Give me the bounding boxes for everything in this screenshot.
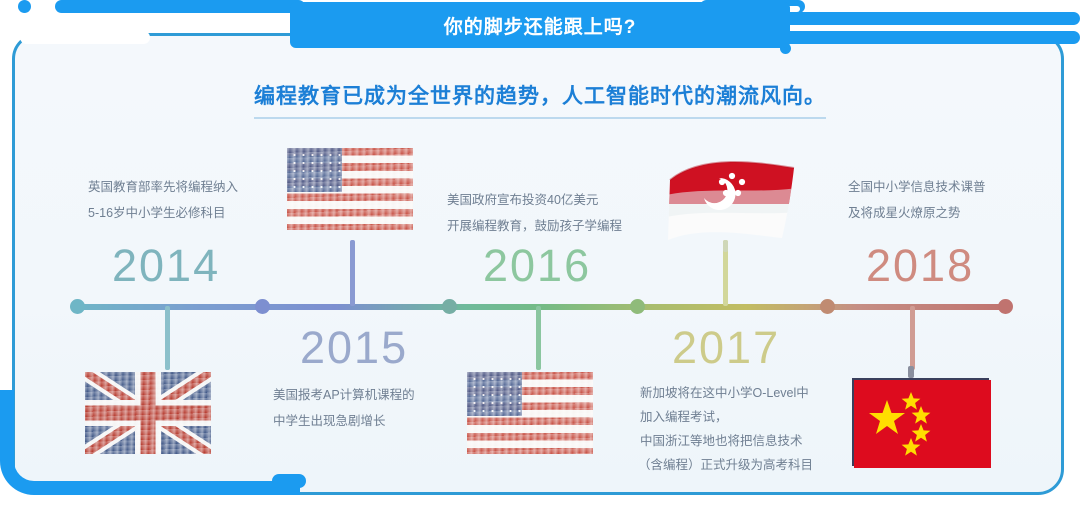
year-label-2017: 2017 — [672, 322, 780, 374]
year-label-2014: 2014 — [112, 240, 220, 292]
caption-2017-line-1: 新加坡将在这中小学O-Level中 — [640, 382, 809, 404]
flag-united-kingdom — [85, 372, 211, 454]
timeline-stem-2015 — [350, 240, 355, 306]
caption-2015-line-2: 中学生出现急剧增长 — [273, 410, 386, 432]
timeline-node-2015 — [255, 299, 270, 314]
bottom-left-corner-cap — [272, 474, 306, 488]
caption-2016-line-2: 开展编程教育，鼓励孩子学编程 — [447, 215, 622, 237]
caption-2017-line-3: 中国浙江等地也将把信息技术 — [640, 430, 803, 452]
flag-united-states-2016 — [467, 372, 593, 454]
timeline-stem-2016 — [536, 306, 541, 370]
caption-2018-line-1: 全国中小学信息技术课普 — [848, 176, 986, 198]
caption-2014-line-1: 英国教育部率先将编程纳入 — [88, 176, 238, 198]
timeline-stem-2014 — [165, 306, 170, 370]
flag-singapore — [662, 142, 798, 247]
timeline-node-2016 — [442, 299, 457, 314]
caption-2017-line-2: 加入编程考试， — [640, 406, 728, 428]
flagpole-singapore — [723, 240, 728, 252]
timeline-node-end — [998, 299, 1013, 314]
timeline-node-2017 — [630, 299, 645, 314]
caption-2018-line-2: 及将成星火燎原之势 — [848, 202, 961, 224]
year-label-2015: 2015 — [300, 322, 408, 374]
flag-texture-overlay — [287, 148, 413, 230]
timeline-stem-2018 — [910, 306, 915, 370]
caption-2014-line-2: 5-16岁中小学生必修科目 — [88, 202, 226, 224]
header-banner: 你的脚步还能跟上吗? — [290, 2, 790, 48]
flag-texture-overlay — [467, 372, 593, 454]
timeline-node-2018 — [820, 299, 835, 314]
subtitle-text: 编程教育已成为全世界的趋势，人工智能时代的潮流风向。 — [254, 80, 826, 119]
year-label-2016: 2016 — [483, 240, 591, 292]
year-label-2018: 2018 — [866, 240, 974, 292]
timeline-node-2014 — [70, 299, 85, 314]
flag-china — [852, 378, 989, 466]
banner-title: 你的脚步还能跟上吗? — [444, 12, 637, 39]
caption-2017-line-4: （含编程）正式升级为高考科目 — [638, 454, 813, 476]
flag-texture-overlay — [85, 372, 211, 454]
subtitle-container: 编程教育已成为全世界的趋势，人工智能时代的潮流风向。 — [0, 80, 1080, 119]
flagpole-china — [908, 366, 914, 378]
flag-united-states-2015 — [287, 148, 413, 230]
infographic-canvas: 你的脚步还能跟上吗? 编程教育已成为全世界的趋势，人工智能时代的潮流风向。 英国… — [0, 0, 1080, 531]
caption-2015-line-1: 美国报考AP计算机课程的 — [273, 384, 415, 406]
caption-2016-line-1: 美国政府宣布投资40亿美元 — [447, 189, 598, 211]
